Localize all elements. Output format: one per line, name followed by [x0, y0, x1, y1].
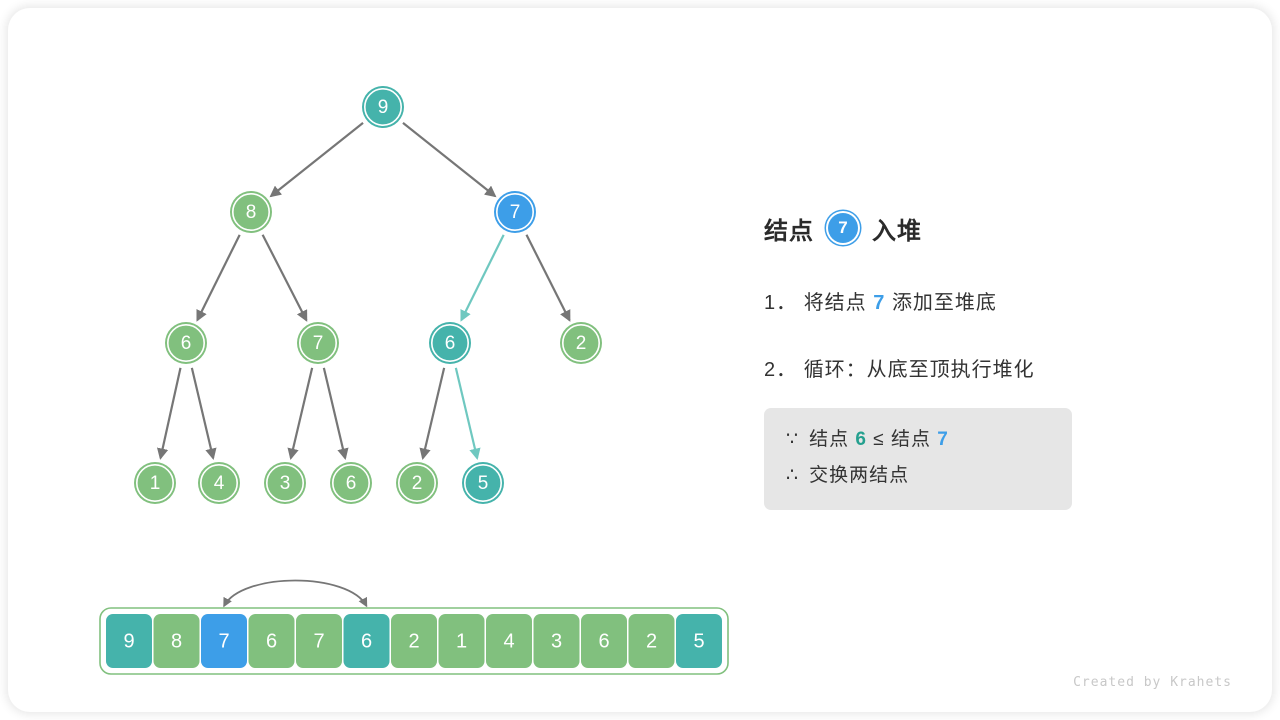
array-cell-box [534, 614, 580, 668]
note-seg-2: 结点 [891, 429, 931, 450]
array-layer: 9876762143625 [100, 581, 728, 675]
tree-node-inner-ring [333, 465, 369, 501]
array-cell-box [344, 614, 390, 668]
note-line-because: ∵结点 6 ≤ 结点 7 [786, 422, 1050, 458]
tree-node-outer-circle [494, 191, 536, 233]
tree-node-label: 5 [478, 473, 489, 494]
step-1-number: 1． [764, 292, 797, 314]
array-cell-box [154, 614, 200, 668]
tree-node-outer-circle [165, 322, 207, 364]
tree-edge [461, 235, 503, 320]
tree-node-outer-circle [462, 462, 504, 504]
tree-node-outer-circle [230, 191, 272, 233]
credit-label: Created by Krahets [1073, 675, 1232, 690]
array-cell-label: 7 [218, 631, 229, 653]
array-cell[interactable]: 1 [439, 614, 485, 668]
tree-node-inner-ring [137, 465, 173, 501]
because-symbol: ∵ [786, 429, 799, 450]
array-cell-label: 6 [598, 631, 609, 653]
tree-node-outer-circle [134, 462, 176, 504]
array-cell[interactable]: 5 [676, 614, 722, 668]
array-cell-box [249, 614, 295, 668]
tree-node-inner-ring [168, 325, 204, 361]
panel-title-suffix: 入堆 [872, 211, 922, 246]
tree-node-inner-ring [465, 465, 501, 501]
tree-node-outer-circle [330, 462, 372, 504]
tree-node-outer-circle [560, 322, 602, 364]
panel-title-badge: 7 [828, 213, 858, 243]
tree-node[interactable]: 4 [198, 462, 240, 504]
array-cell-label: 3 [551, 631, 562, 653]
tree-node-label: 4 [214, 473, 225, 494]
tree-node-inner-ring [432, 325, 468, 361]
step-2-number: 2． [764, 359, 797, 381]
tree-node-label: 7 [510, 202, 521, 223]
tree-node[interactable]: 6 [429, 322, 471, 364]
panel-title: 结点 7 入堆 [764, 208, 1234, 248]
array-cell[interactable]: 7 [201, 614, 247, 668]
array-swap-arc [224, 581, 367, 607]
array-cell[interactable]: 9 [106, 614, 152, 668]
tree-edge [192, 368, 213, 458]
content-card: 9876762143625 9876762143625 结点 7 入堆 1． 将… [8, 8, 1272, 712]
note-conclusion: 交换两结点 [809, 465, 909, 486]
panel-title-prefix: 结点 [764, 211, 814, 246]
array-container [100, 608, 728, 674]
tree-edge-layer [161, 123, 570, 458]
tree-node-inner-ring [233, 194, 269, 230]
array-cell-box [676, 614, 722, 668]
tree-edge [456, 368, 477, 458]
step-1-text-before: 将结点 [804, 292, 867, 314]
tree-node[interactable]: 3 [264, 462, 306, 504]
array-cell-box [581, 614, 627, 668]
array-cell-label: 6 [266, 631, 277, 653]
step-1-text-after: 添加至堆底 [892, 292, 997, 314]
tree-edge [423, 368, 444, 458]
tree-node[interactable]: 1 [134, 462, 176, 504]
array-cell-box [391, 614, 437, 668]
tree-node-label: 6 [181, 333, 192, 354]
array-cell-label: 5 [693, 631, 704, 653]
tree-node-label: 7 [313, 333, 324, 354]
tree-node[interactable]: 2 [560, 322, 602, 364]
array-cell[interactable]: 4 [486, 614, 532, 668]
tree-node-label: 6 [445, 333, 456, 354]
tree-node-inner-ring [563, 325, 599, 361]
tree-node-inner-ring [365, 89, 401, 125]
tree-node[interactable]: 9 [362, 86, 404, 128]
tree-node[interactable]: 8 [230, 191, 272, 233]
note-operator: ≤ [873, 429, 884, 450]
array-cell[interactable]: 3 [534, 614, 580, 668]
array-cell-label: 2 [646, 631, 657, 653]
array-cell[interactable]: 2 [391, 614, 437, 668]
tree-edge [263, 235, 307, 321]
array-cell-label: 4 [503, 631, 514, 653]
tree-node[interactable]: 6 [330, 462, 372, 504]
array-cell-box [296, 614, 342, 668]
tree-node-label: 6 [346, 473, 357, 494]
array-cell[interactable]: 8 [154, 614, 200, 668]
tree-node-inner-ring [267, 465, 303, 501]
tree-node-outer-circle [429, 322, 471, 364]
tree-edge [526, 235, 569, 320]
tree-edge [291, 368, 312, 458]
tree-node-layer: 9876762143625 [134, 86, 602, 504]
array-cell[interactable]: 6 [581, 614, 627, 668]
tree-node-label: 9 [378, 97, 389, 118]
tree-node-label: 8 [246, 202, 257, 223]
array-cell-label: 6 [361, 631, 372, 653]
tree-edge [403, 123, 495, 196]
array-cell-label: 2 [408, 631, 419, 653]
array-cell-box [486, 614, 532, 668]
array-cell-box [106, 614, 152, 668]
tree-edge [197, 235, 239, 320]
tree-node-label: 1 [150, 473, 161, 494]
tree-node-inner-ring [399, 465, 435, 501]
therefore-symbol: ∴ [786, 465, 799, 486]
tree-edge [271, 123, 363, 196]
note-value-2: 7 [937, 429, 949, 450]
tree-node-inner-ring [201, 465, 237, 501]
tree-node-outer-circle [198, 462, 240, 504]
note-line-therefore: ∴交换两结点 [786, 458, 1050, 494]
array-cell-box [629, 614, 675, 668]
tree-node[interactable]: 5 [462, 462, 504, 504]
note-box: ∵结点 6 ≤ 结点 7 ∴交换两结点 [764, 408, 1072, 510]
tree-node-outer-circle [264, 462, 306, 504]
array-cell[interactable]: 6 [344, 614, 390, 668]
step-2: 2． 循环：从底至顶执行堆化 [764, 353, 1234, 382]
step-1-value: 7 [873, 292, 885, 314]
array-cell-box [439, 614, 485, 668]
tree-node-outer-circle [396, 462, 438, 504]
tree-node-outer-circle [362, 86, 404, 128]
array-cell-label: 9 [123, 631, 134, 653]
array-cell[interactable]: 7 [296, 614, 342, 668]
tree-node-label: 2 [576, 333, 587, 354]
tree-node[interactable]: 7 [297, 322, 339, 364]
tree-node[interactable]: 2 [396, 462, 438, 504]
array-cell-box [201, 614, 247, 668]
array-cell-label: 8 [171, 631, 182, 653]
note-seg-1: 结点 [809, 429, 849, 450]
tree-node[interactable]: 6 [165, 322, 207, 364]
tree-node-outer-circle [297, 322, 339, 364]
array-cell[interactable]: 6 [249, 614, 295, 668]
array-cell[interactable]: 2 [629, 614, 675, 668]
step-1: 1． 将结点 7 添加至堆底 [764, 286, 1234, 315]
tree-node[interactable]: 7 [494, 191, 536, 233]
tree-edge [161, 368, 181, 458]
explanation-panel: 结点 7 入堆 1． 将结点 7 添加至堆底 2． 循环：从底至顶执行堆化 ∵结… [764, 208, 1234, 510]
array-cell-label: 7 [313, 631, 324, 653]
note-value-1: 6 [855, 429, 867, 450]
tree-node-inner-ring [497, 194, 533, 230]
tree-node-label: 2 [412, 473, 423, 494]
screenshot-root: 9876762143625 9876762143625 结点 7 入堆 1． 将… [0, 0, 1280, 720]
tree-node-label: 3 [280, 473, 291, 494]
array-cell-label: 1 [456, 631, 467, 653]
step-2-text-before: 循环：从底至顶执行堆化 [804, 359, 1035, 381]
tree-edge [324, 368, 345, 458]
tree-node-inner-ring [300, 325, 336, 361]
